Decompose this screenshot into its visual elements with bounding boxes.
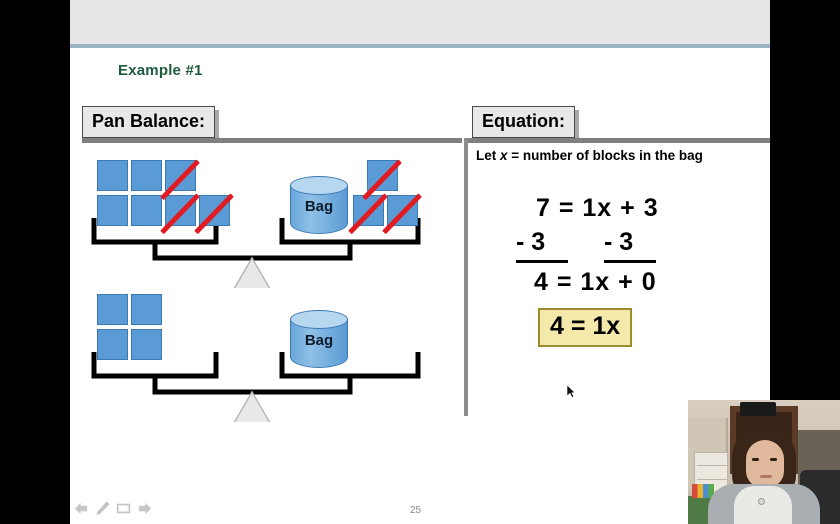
whiteboard-icon[interactable] [116, 501, 131, 516]
pan-balance-section-label: Pan Balance: [82, 106, 215, 138]
block [97, 329, 128, 360]
mouse-cursor [567, 385, 576, 398]
answer-highlight-box: 4 = 1x [538, 308, 632, 347]
eye [752, 458, 759, 461]
bag-label: Bag [290, 332, 348, 349]
webcam-video[interactable] [688, 400, 840, 524]
block [97, 294, 128, 325]
page-title: Example #1 [118, 62, 203, 79]
subtract-left: - 3 [516, 228, 545, 257]
balance-bottom-frame [70, 282, 464, 422]
equation-section-rule [464, 138, 770, 143]
let-variable: x [500, 148, 508, 163]
arrow-right-icon[interactable] [137, 501, 152, 516]
equation-line-2: 4 = 1x + 0 [534, 268, 657, 297]
bag-top-ellipse [290, 310, 348, 329]
slide-toolbar[interactable] [74, 501, 152, 516]
page-number: 25 [410, 505, 421, 516]
bag-label: Bag [290, 198, 348, 215]
webcam-person-face [746, 440, 784, 488]
block [131, 160, 162, 191]
screen: Example #1 Pan Balance: Equation: [0, 0, 840, 524]
block [97, 195, 128, 226]
pan-balance-diagrams: Bag [70, 148, 464, 448]
arrow-left-icon[interactable] [74, 501, 89, 516]
header-divider-rule [70, 44, 770, 48]
variable-definition: Let x = number of blocks in the bag [476, 148, 703, 163]
bag-top-ellipse [290, 176, 348, 195]
block [97, 160, 128, 191]
bag: Bag [290, 176, 348, 238]
eye [770, 458, 777, 461]
subtract-right: - 3 [604, 228, 633, 257]
equation-work: Let x = number of blocks in the bag 7 = … [468, 144, 770, 424]
subtract-rule-left [516, 260, 568, 263]
subtract-rule-right [604, 260, 656, 263]
drawer-line [697, 465, 727, 466]
block [131, 294, 162, 325]
balance-top: Bag [70, 148, 464, 288]
let-suffix: = number of blocks in the bag [508, 148, 703, 163]
pan-balance-section-rule [82, 138, 462, 143]
mouth [760, 475, 772, 478]
block [131, 329, 162, 360]
block [131, 195, 162, 226]
webcam-person-necklace [758, 498, 765, 505]
slide-stage: Example #1 Pan Balance: Equation: [70, 0, 770, 524]
header-bar [70, 0, 770, 44]
webcam-speaker [740, 402, 776, 416]
drawer-line [697, 479, 727, 480]
bag: Bag [290, 310, 348, 372]
webcam-person-hood-inner [734, 486, 792, 524]
equation-section-label: Equation: [472, 106, 575, 138]
equation-line-1: 7 = 1x + 3 [536, 194, 659, 223]
balance-bottom: Bag [70, 282, 464, 422]
let-prefix: Let [476, 148, 500, 163]
pen-icon[interactable] [95, 501, 110, 516]
